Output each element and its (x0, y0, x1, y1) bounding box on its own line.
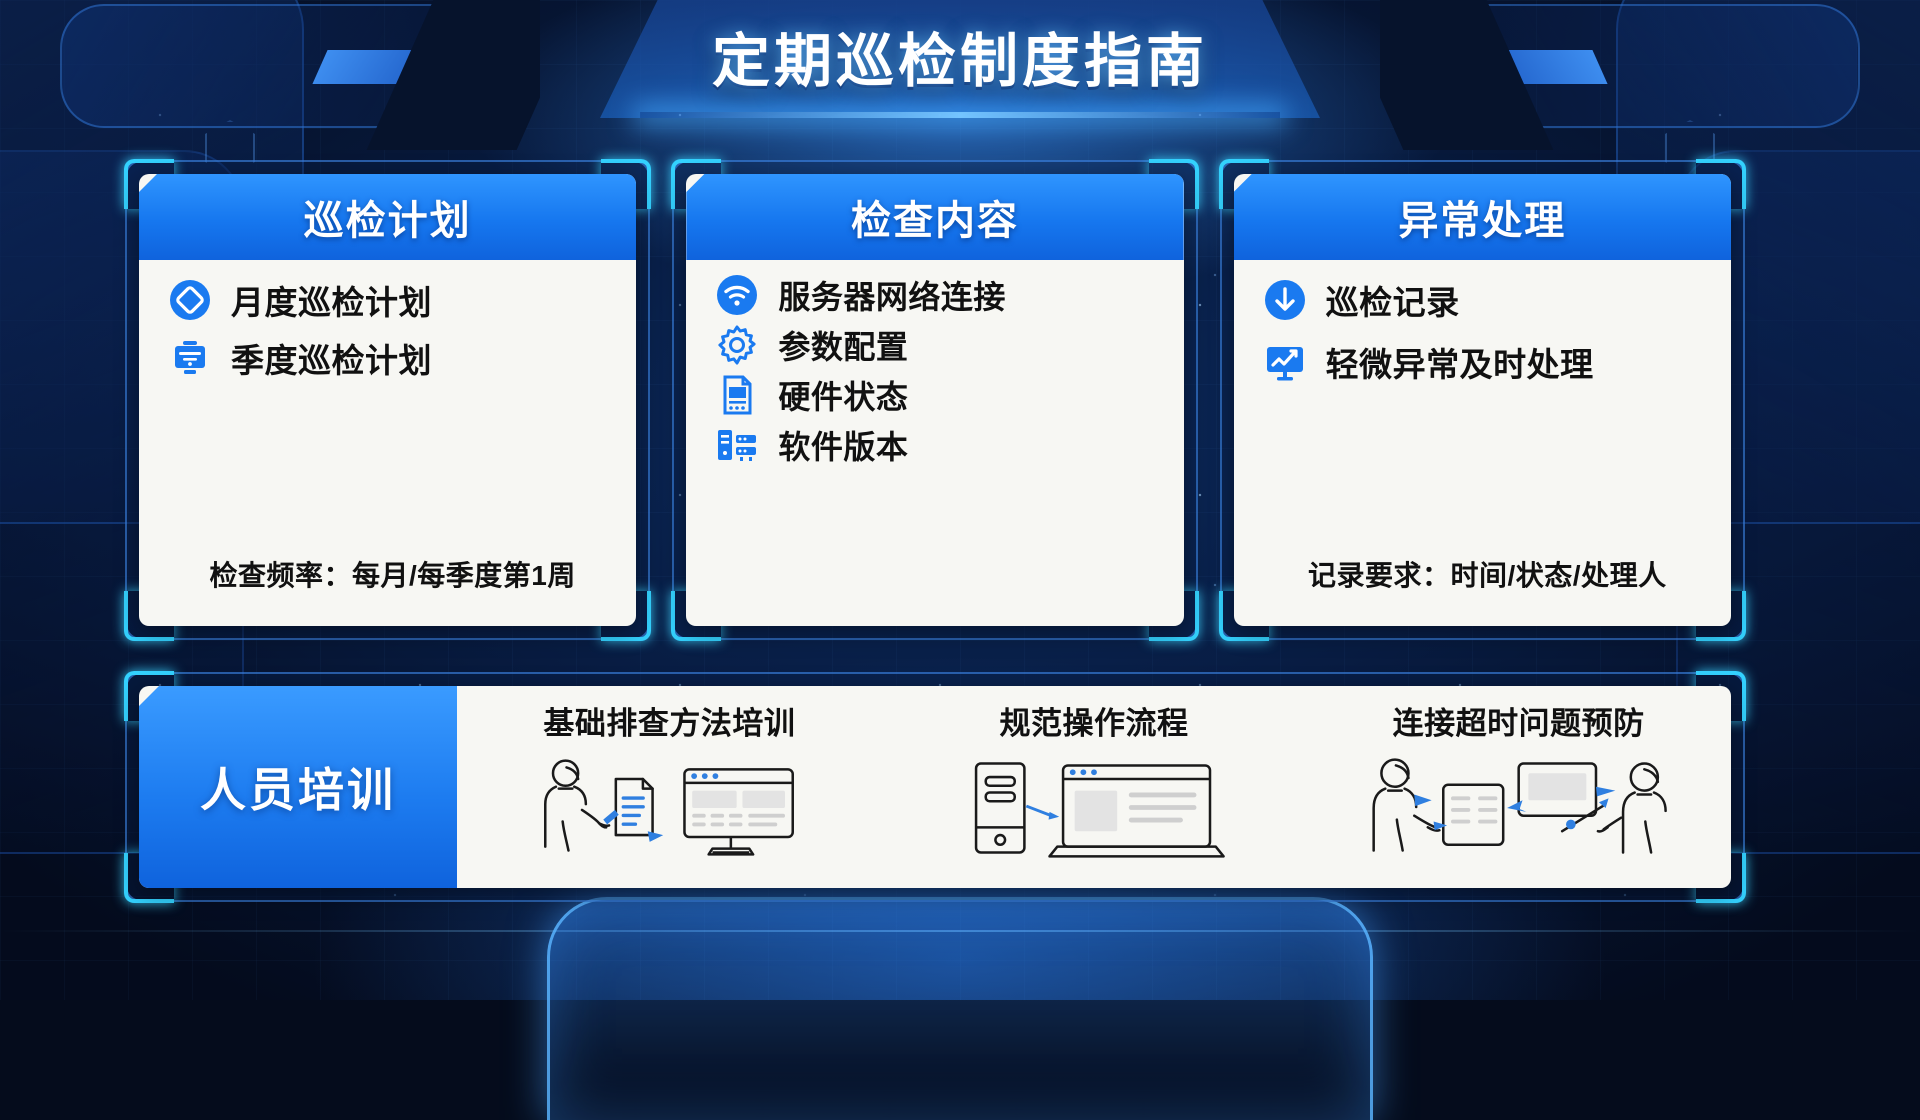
training-label-panel: 人员培训 (139, 686, 457, 888)
training-column-timeout-prevention[interactable]: 连接超时问题预防 (1306, 686, 1731, 888)
list-item[interactable]: 服务器网络连接 (714, 272, 1165, 318)
server-rack-icon (714, 422, 760, 468)
training-section[interactable]: 人员培训 基础排查方法培训 (125, 672, 1745, 902)
page-header: 定期巡检制度指南 (0, 0, 1920, 150)
list-item-label: 月度巡检计划 (231, 276, 432, 324)
wifi-circle-icon (714, 272, 760, 318)
list-item[interactable]: 硬件状态 (714, 372, 1165, 418)
gear-icon (714, 322, 760, 368)
card-header: 异常处理 (1234, 174, 1731, 260)
bottom-glow-arc (547, 897, 1373, 1120)
training-label: 人员培训 (200, 754, 396, 820)
person-document-monitor-illustration (524, 749, 814, 867)
card-inspection-content[interactable]: 检查内容 服务器网络连接 (672, 160, 1197, 640)
card-inspection-plan[interactable]: 巡检计划 月度巡检计划 (125, 160, 650, 640)
training-column-title: 规范操作流程 (1000, 698, 1189, 743)
training-column-title: 基础排查方法培训 (543, 698, 795, 743)
training-column-basic-troubleshooting[interactable]: 基础排查方法培训 (457, 686, 882, 888)
page-title: 定期巡检制度指南 (0, 14, 1920, 98)
two-people-screen-illustration (1364, 749, 1673, 867)
diamond-circle-icon (167, 277, 213, 323)
list-item-label: 季度巡检计划 (231, 334, 432, 382)
card-body: 巡检记录 轻微异常及时处理 记录要求：时间/状态/处理人 (1234, 260, 1731, 626)
training-column-title: 连接超时问题预防 (1393, 698, 1645, 743)
card-header: 巡检计划 (139, 174, 636, 260)
card-body: 月度巡检计划 季度巡检计划 检查频 (139, 260, 636, 626)
card-title: 异常处理 (1398, 188, 1566, 246)
list-item-label: 轻微异常及时处理 (1326, 338, 1594, 386)
device-document-icon (714, 372, 760, 418)
training-columns: 基础排查方法培训 (457, 686, 1731, 888)
list-item[interactable]: 季度巡检计划 (167, 334, 618, 382)
monitor-chart-icon (1262, 339, 1308, 385)
card-title: 检查内容 (851, 188, 1019, 246)
monitor-icon (167, 335, 213, 381)
card-note: 检查频率：每月/每季度第1周 (167, 554, 618, 616)
header-glow-bar (640, 112, 1280, 118)
list-item-label: 参数配置 (778, 322, 908, 368)
training-column-standard-procedure[interactable]: 规范操作流程 (882, 686, 1307, 888)
list-item[interactable]: 软件版本 (714, 422, 1165, 468)
list-item-label: 硬件状态 (778, 372, 908, 418)
list-item[interactable]: 参数配置 (714, 322, 1165, 368)
card-body: 服务器网络连接 参数配置 (686, 260, 1183, 626)
cards-row: 巡检计划 月度巡检计划 (125, 160, 1745, 640)
list-item[interactable]: 月度巡检计划 (167, 276, 618, 324)
list-item-label: 服务器网络连接 (778, 272, 1006, 318)
list-item[interactable]: 巡检记录 (1262, 276, 1713, 324)
card-exception-handling[interactable]: 异常处理 巡检记录 (1220, 160, 1745, 640)
card-header: 检查内容 (686, 174, 1183, 260)
list-item-label: 软件版本 (778, 422, 908, 468)
list-item[interactable]: 轻微异常及时处理 (1262, 338, 1713, 386)
tower-laptop-illustration (949, 749, 1239, 867)
list-item-label: 巡检记录 (1326, 276, 1460, 324)
card-title: 巡检计划 (304, 188, 472, 246)
card-note: 记录要求：时间/状态/处理人 (1262, 554, 1713, 616)
arrow-down-circle-icon (1262, 277, 1308, 323)
